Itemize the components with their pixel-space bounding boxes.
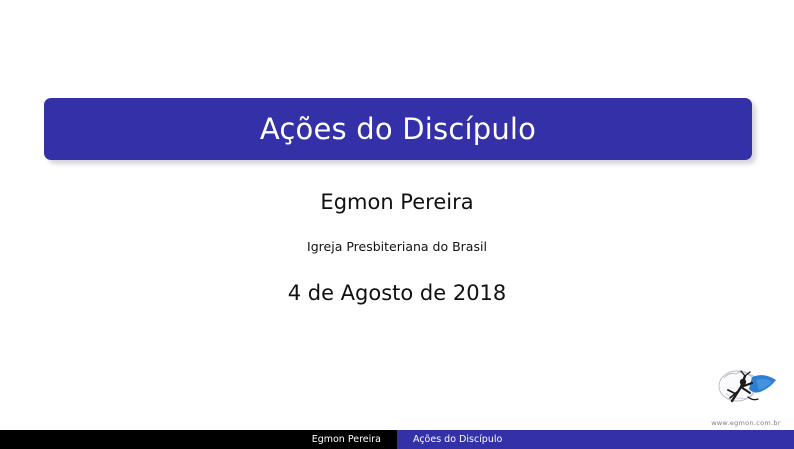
author-name: Egmon Pereira [0, 190, 794, 214]
egmon-logo-icon [712, 367, 782, 411]
footer-author-section: Egmon Pereira [0, 430, 397, 449]
title-banner: Ações do Discípulo [44, 98, 752, 160]
slide-title: Ações do Discípulo [260, 115, 536, 144]
presentation-date: 4 de Agosto de 2018 [0, 281, 794, 305]
logo-block: www.egmon.com.br [704, 367, 788, 427]
institute-name: Igreja Presbiteriana do Brasil [0, 240, 794, 254]
logo-website-url: www.egmon.com.br [704, 419, 788, 427]
footer-title-section: Ações do Discípulo [397, 430, 794, 449]
title-meta-block: Egmon Pereira Igreja Presbiteriana do Br… [0, 190, 794, 305]
slide-footer: Egmon Pereira Ações do Discípulo [0, 430, 794, 449]
footer-title-label: Ações do Discípulo [413, 435, 502, 445]
presentation-slide: Ações do Discípulo Egmon Pereira Igreja … [0, 0, 794, 449]
footer-author-label: Egmon Pereira [312, 435, 381, 445]
